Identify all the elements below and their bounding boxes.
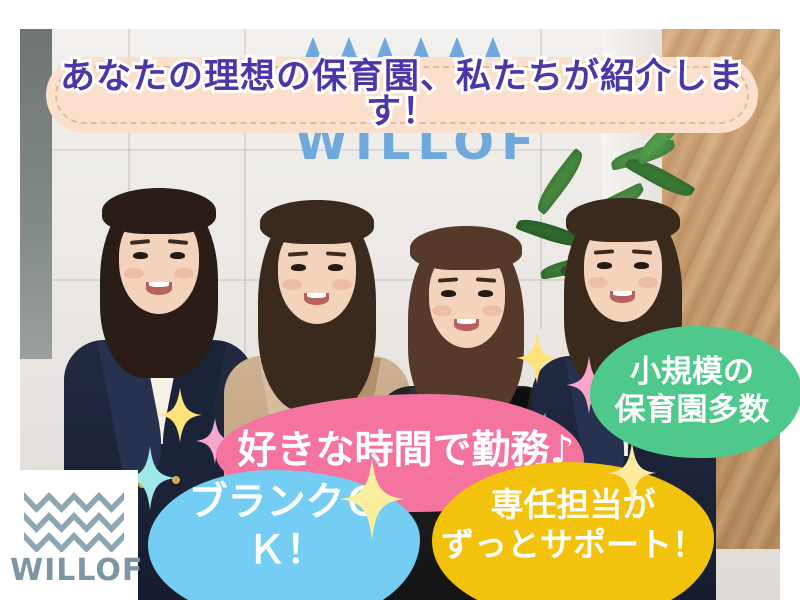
willof-zigzag-icon <box>24 486 124 552</box>
bubble-yellow-text: 専任担当が ずっとサポート！ <box>441 485 705 566</box>
sparkle-yellow-right-icon <box>516 332 558 384</box>
bubble-yellow-line2: ずっとサポート！ <box>441 525 705 564</box>
banner-headline: あなたの理想の保育園、私たちが紹介します！ <box>46 60 758 130</box>
poster-canvas: WILLOF <box>0 0 800 600</box>
willof-logo-wordmark: WILLOF <box>10 556 138 586</box>
headline-banner: あなたの理想の保育園、私たちが紹介します！ <box>46 57 758 133</box>
willof-logo-card: WILLOF <box>10 470 138 600</box>
bubble-green-line2: 保育園多数 <box>615 392 770 428</box>
bubble-green-text: 小規模の 保育園多数 <box>615 354 770 430</box>
sparkle-yellow-mid-icon <box>340 458 404 540</box>
bubble-green: 小規模の 保育園多数 <box>590 326 800 458</box>
bubble-green-line1: 小規模の <box>630 354 754 390</box>
